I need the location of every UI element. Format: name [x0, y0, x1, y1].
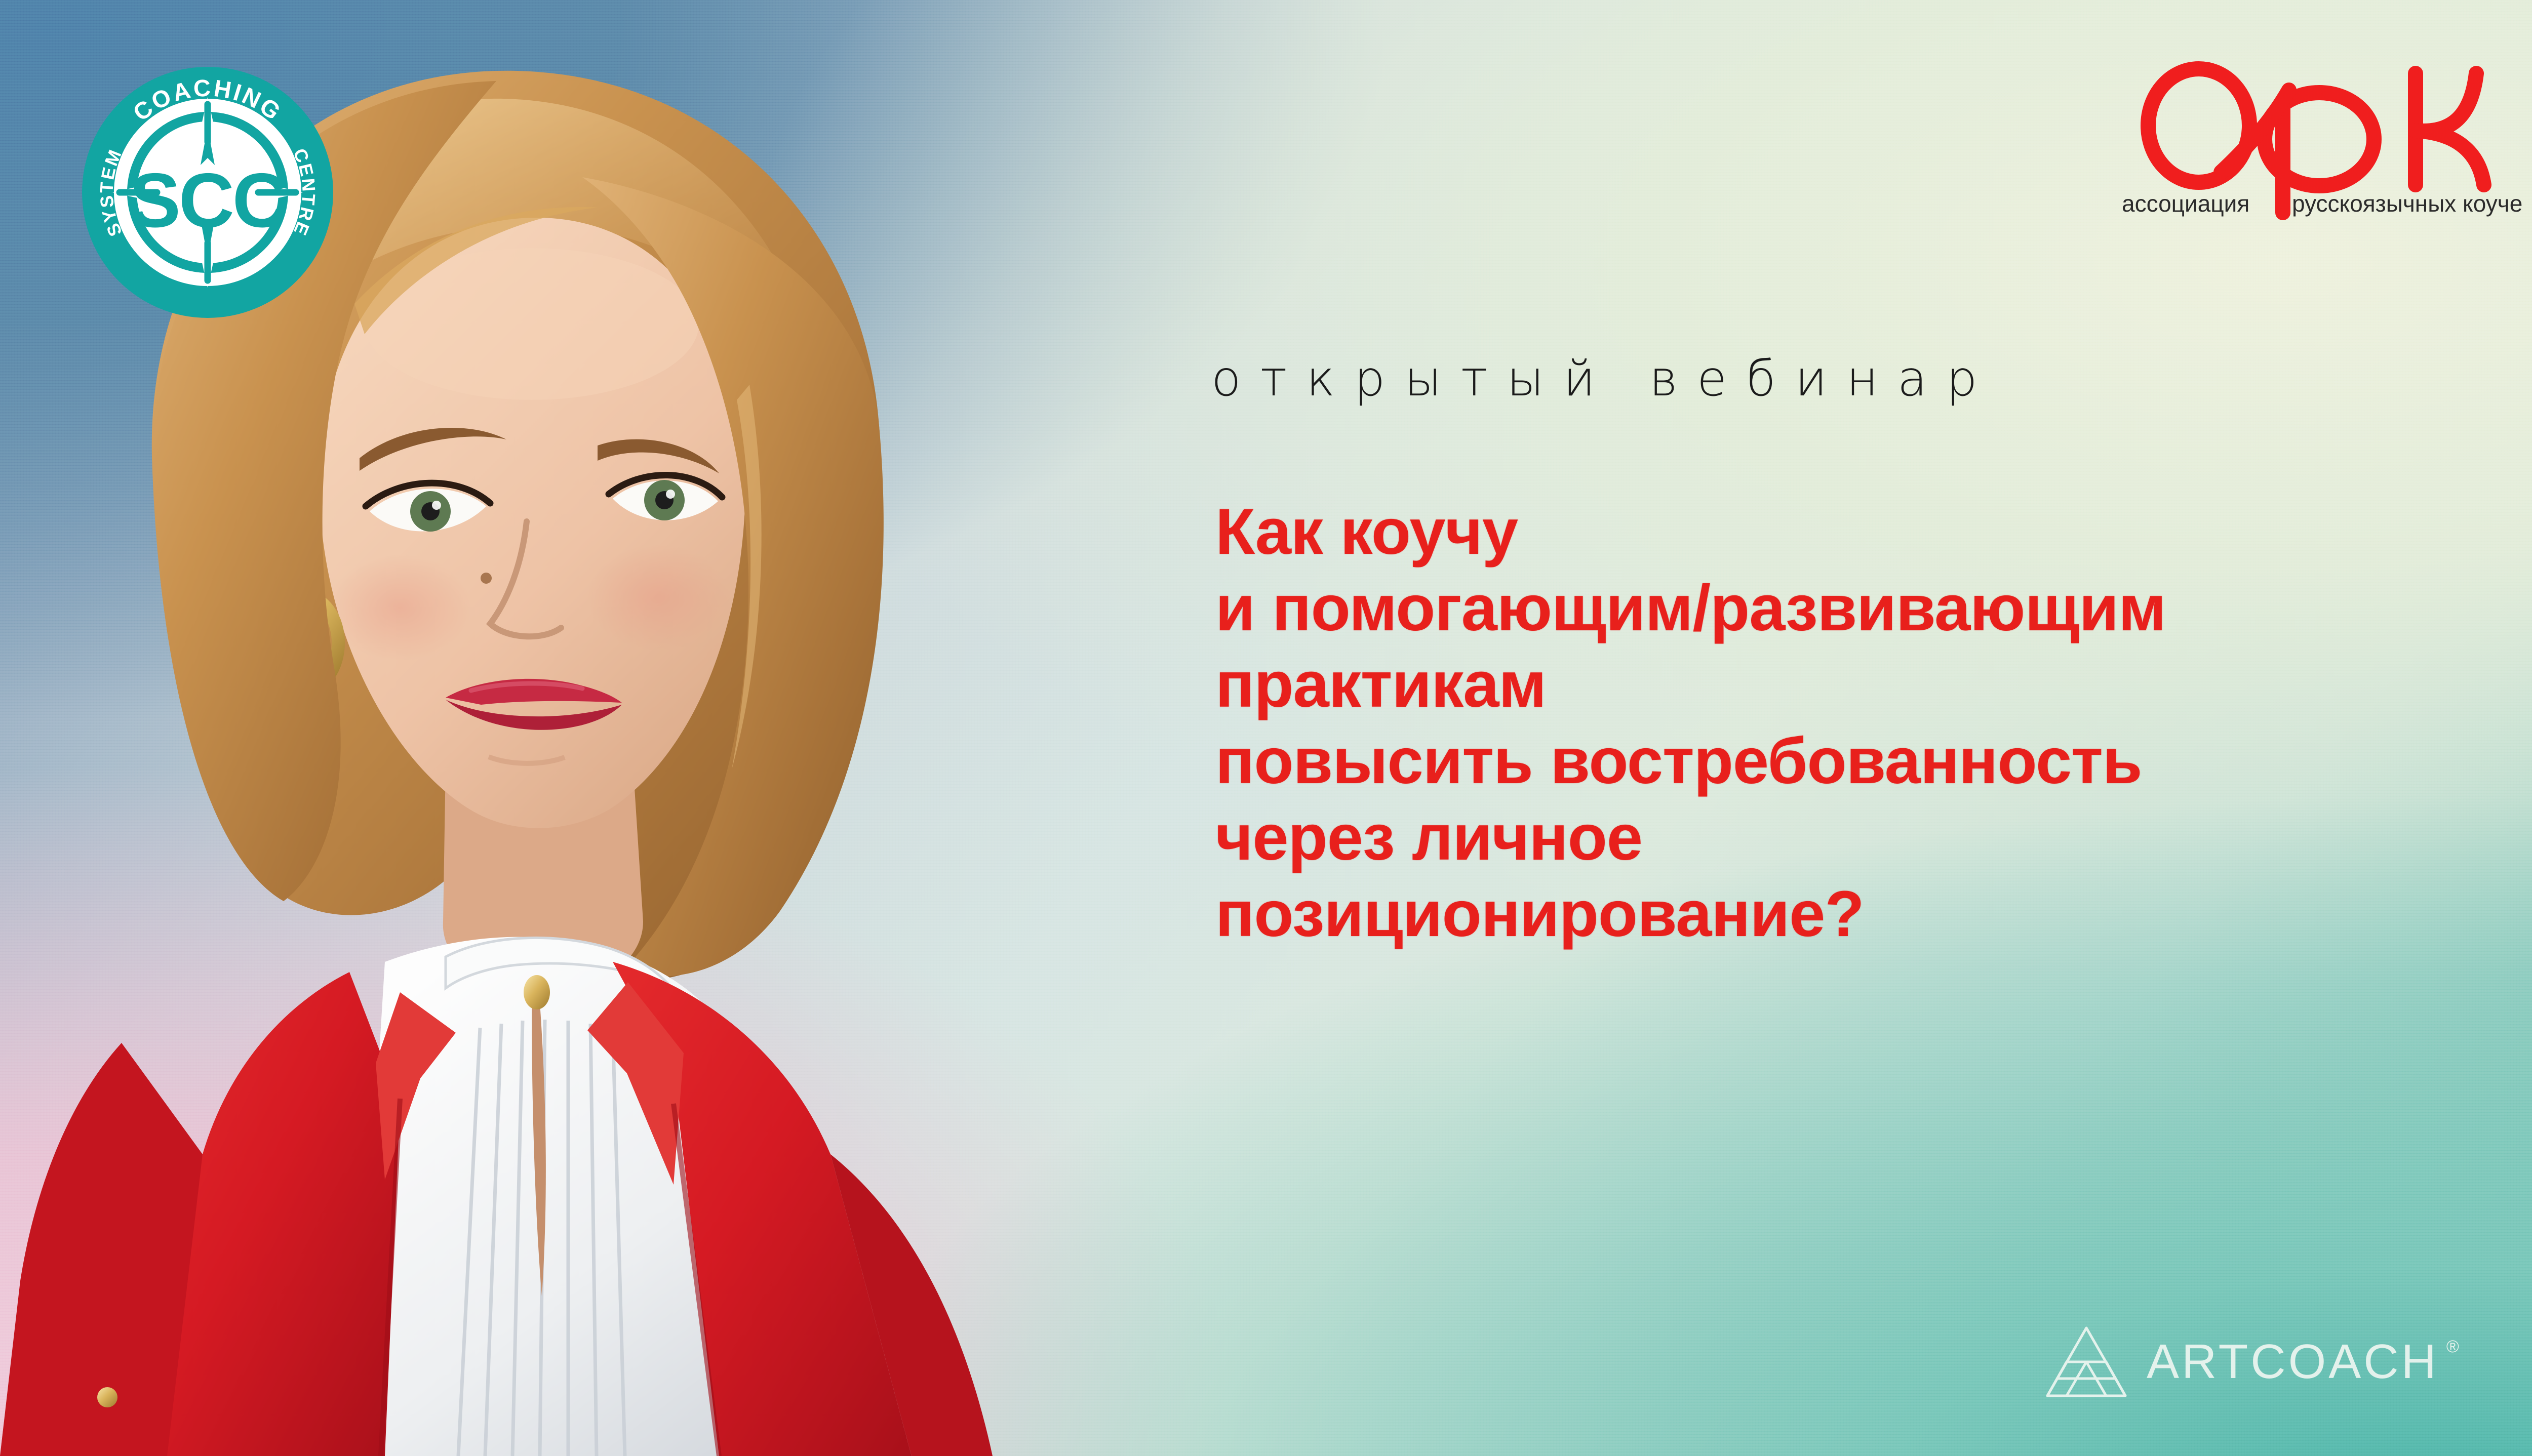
- artcoach-name: ARTCOACH ®: [2147, 1334, 2439, 1390]
- ark-logo-mark: ассоциация русскоязычных коучей: [2122, 51, 2522, 225]
- headline-line-1: Как коучу: [1215, 494, 2512, 570]
- ark-logo: ассоциация русскоязычных коучей: [2122, 51, 2522, 225]
- ark-tagline-left: ассоциация: [2122, 190, 2249, 217]
- registered-mark-icon: ®: [2446, 1337, 2459, 1357]
- webinar-banner: SCC COACHING SYSTEM CENTRE: [0, 0, 2532, 1456]
- blouse-button: [524, 975, 550, 1009]
- headline-line-5: через личное: [1215, 799, 2512, 876]
- headline-line-6: позиционирование?: [1215, 876, 2512, 952]
- right-cheek: [587, 544, 729, 651]
- headline-line-2: и помогающим/развивающим: [1215, 570, 2512, 646]
- artcoach-watermark: ARTCOACH ®: [2043, 1324, 2439, 1400]
- webinar-headline: Как коучу и помогающим/развивающим практ…: [1215, 494, 2512, 952]
- artcoach-label: ARTCOACH: [2147, 1334, 2439, 1389]
- left-cheek: [329, 554, 471, 661]
- scc-monogram: SCC: [130, 157, 286, 244]
- headline-line-4: повысить востребованность: [1215, 723, 2512, 799]
- sleeve-button: [97, 1387, 117, 1407]
- webinar-subtitle: открытый вебинар: [1211, 350, 1997, 407]
- beauty-mark: [481, 573, 492, 584]
- ark-tagline-right: русскоязычных коучей: [2292, 190, 2522, 217]
- scc-logo-mark: SCC COACHING SYSTEM CENTRE: [81, 66, 334, 319]
- triangle-grid-icon: [2043, 1324, 2129, 1400]
- scc-logo: SCC COACHING SYSTEM CENTRE: [81, 66, 334, 319]
- headline-line-3: практикам: [1215, 646, 2512, 723]
